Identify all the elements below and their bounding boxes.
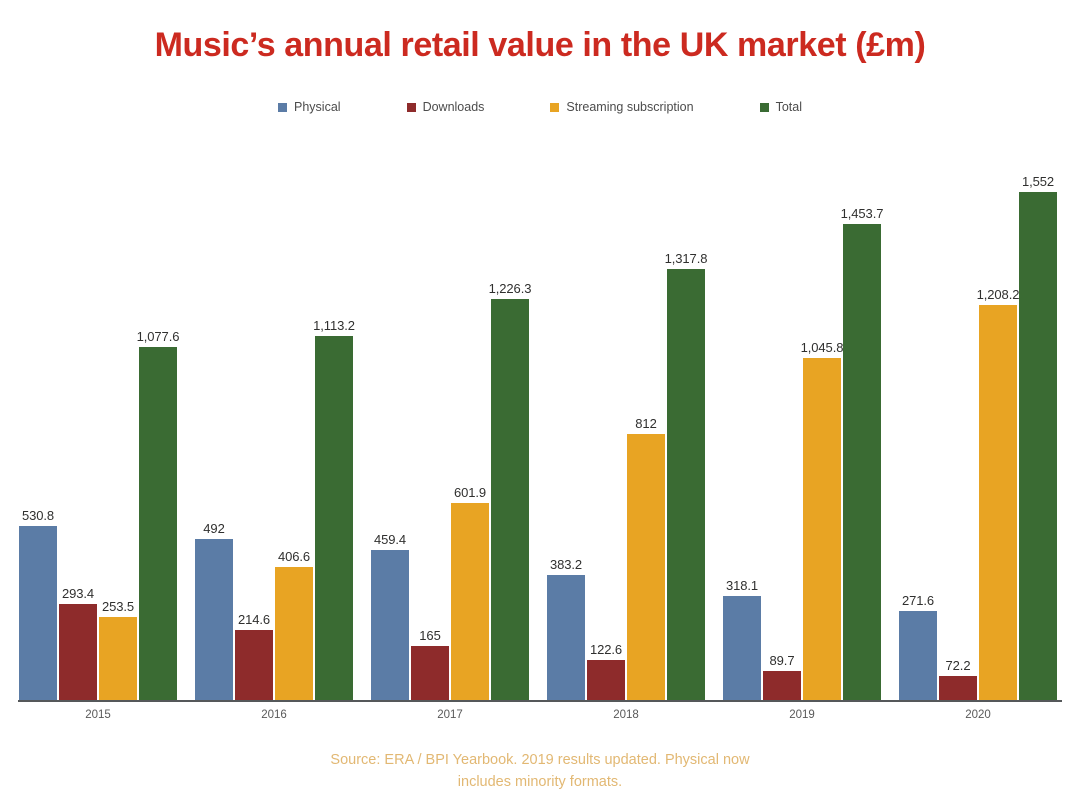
source-note-line-1: Source: ERA / BPI Yearbook. 2019 results… <box>0 749 1080 771</box>
bar-group-2017: 459.4165601.91,226.32017 <box>371 180 529 700</box>
x-axis-tick-label-2015: 2015 <box>19 709 177 721</box>
bar-value-label: 318.1 <box>726 578 758 593</box>
bar-physical-2017[interactable]: 459.4 <box>371 550 409 700</box>
bar-total-2019[interactable]: 1,453.7 <box>843 224 881 700</box>
bar-column: 1,226.3 <box>491 180 529 700</box>
bar-physical-2019[interactable]: 318.1 <box>723 596 761 700</box>
bar-column: 1,208.2 <box>979 180 1017 700</box>
bar-group-bars: 492214.6406.61,113.2 <box>195 180 353 700</box>
bar-value-label: 72.2 <box>946 658 971 673</box>
bar-value-label: 89.7 <box>770 653 795 668</box>
bar-column: 1,113.2 <box>315 180 353 700</box>
bar-group-2019: 318.189.71,045.81,453.72019 <box>723 180 881 700</box>
bar-streaming-subscription-2020[interactable]: 1,208.2 <box>979 305 1017 700</box>
bar-group-bars: 459.4165601.91,226.3 <box>371 180 529 700</box>
bar-column: 1,453.7 <box>843 180 881 700</box>
bar-value-label: 293.4 <box>62 586 94 601</box>
bar-group-2016: 492214.6406.61,113.22016 <box>195 180 353 700</box>
bar-value-label: 253.5 <box>102 599 134 614</box>
bar-column: 214.6 <box>235 180 273 700</box>
bar-streaming-subscription-2017[interactable]: 601.9 <box>451 503 489 700</box>
bar-column: 72.2 <box>939 180 977 700</box>
bar-group-2015: 530.8293.4253.51,077.62015 <box>19 180 177 700</box>
bar-column: 1,045.8 <box>803 180 841 700</box>
x-axis-tick-label-2020: 2020 <box>899 709 1057 721</box>
x-axis-tick-label-2018: 2018 <box>547 709 705 721</box>
bar-value-label: 1,226.3 <box>489 281 532 296</box>
bar-group-bars: 530.8293.4253.51,077.6 <box>19 180 177 700</box>
bar-group-2020: 271.672.21,208.21,5522020 <box>899 180 1057 700</box>
bar-total-2018[interactable]: 1,317.8 <box>667 269 705 700</box>
bar-column: 1,317.8 <box>667 180 705 700</box>
bar-group-bars: 271.672.21,208.21,552 <box>899 180 1057 700</box>
x-axis-tick-label-2019: 2019 <box>723 709 881 721</box>
bar-physical-2015[interactable]: 530.8 <box>19 526 57 700</box>
x-axis-line <box>18 700 1062 702</box>
bar-value-label: 530.8 <box>22 508 54 523</box>
bar-value-label: 1,317.8 <box>665 251 708 266</box>
bar-column: 1,552 <box>1019 180 1057 700</box>
bar-value-label: 1,077.6 <box>137 329 180 344</box>
bar-column: 383.2 <box>547 180 585 700</box>
bar-group-2018: 383.2122.68121,317.82018 <box>547 180 705 700</box>
bar-total-2016[interactable]: 1,113.2 <box>315 336 353 700</box>
bar-column: 459.4 <box>371 180 409 700</box>
bar-column: 1,077.6 <box>139 180 177 700</box>
bar-value-label: 459.4 <box>374 532 406 547</box>
bar-column: 530.8 <box>19 180 57 700</box>
bar-downloads-2019[interactable]: 89.7 <box>763 671 801 700</box>
x-axis-tick-label-2016: 2016 <box>195 709 353 721</box>
bar-group-bars: 383.2122.68121,317.8 <box>547 180 705 700</box>
bar-column: 406.6 <box>275 180 313 700</box>
bar-downloads-2016[interactable]: 214.6 <box>235 630 273 700</box>
source-note-line-2: includes minority formats. <box>0 771 1080 793</box>
bar-downloads-2015[interactable]: 293.4 <box>59 604 97 700</box>
bar-downloads-2017[interactable]: 165 <box>411 646 449 700</box>
bar-column: 812 <box>627 180 665 700</box>
bar-column: 253.5 <box>99 180 137 700</box>
bar-group-bars: 318.189.71,045.81,453.7 <box>723 180 881 700</box>
x-axis-tick-label-2017: 2017 <box>371 709 529 721</box>
bar-column: 271.6 <box>899 180 937 700</box>
bar-value-label: 1,453.7 <box>841 206 884 221</box>
bar-value-label: 492 <box>203 521 224 536</box>
bar-value-label: 601.9 <box>454 485 486 500</box>
bar-value-label: 1,045.8 <box>801 340 844 355</box>
bar-total-2017[interactable]: 1,226.3 <box>491 299 529 700</box>
bar-column: 293.4 <box>59 180 97 700</box>
bar-value-label: 122.6 <box>590 642 622 657</box>
bar-streaming-subscription-2019[interactable]: 1,045.8 <box>803 358 841 700</box>
bar-value-label: 1,208.2 <box>977 287 1020 302</box>
bar-total-2020[interactable]: 1,552 <box>1019 192 1057 700</box>
bar-physical-2020[interactable]: 271.6 <box>899 611 937 700</box>
bar-value-label: 406.6 <box>278 549 310 564</box>
bar-value-label: 165 <box>419 628 440 643</box>
bar-value-label: 1,552 <box>1022 174 1054 189</box>
bar-streaming-subscription-2016[interactable]: 406.6 <box>275 567 313 700</box>
bar-downloads-2018[interactable]: 122.6 <box>587 660 625 700</box>
source-note: Source: ERA / BPI Yearbook. 2019 results… <box>0 749 1080 794</box>
bar-streaming-subscription-2018[interactable]: 812 <box>627 434 665 700</box>
bar-chart-plot-area: 530.8293.4253.51,077.62015492214.6406.61… <box>0 0 1080 810</box>
bar-downloads-2020[interactable]: 72.2 <box>939 676 977 700</box>
bar-value-label: 271.6 <box>902 593 934 608</box>
bar-column: 165 <box>411 180 449 700</box>
bar-column: 318.1 <box>723 180 761 700</box>
bar-column: 601.9 <box>451 180 489 700</box>
bar-physical-2016[interactable]: 492 <box>195 539 233 700</box>
bar-physical-2018[interactable]: 383.2 <box>547 575 585 700</box>
bar-column: 492 <box>195 180 233 700</box>
bar-streaming-subscription-2015[interactable]: 253.5 <box>99 617 137 700</box>
bar-value-label: 383.2 <box>550 557 582 572</box>
bar-value-label: 812 <box>635 416 656 431</box>
bar-value-label: 1,113.2 <box>313 318 355 333</box>
bar-column: 122.6 <box>587 180 625 700</box>
bar-total-2015[interactable]: 1,077.6 <box>139 347 177 700</box>
bar-value-label: 214.6 <box>238 612 270 627</box>
bar-column: 89.7 <box>763 180 801 700</box>
